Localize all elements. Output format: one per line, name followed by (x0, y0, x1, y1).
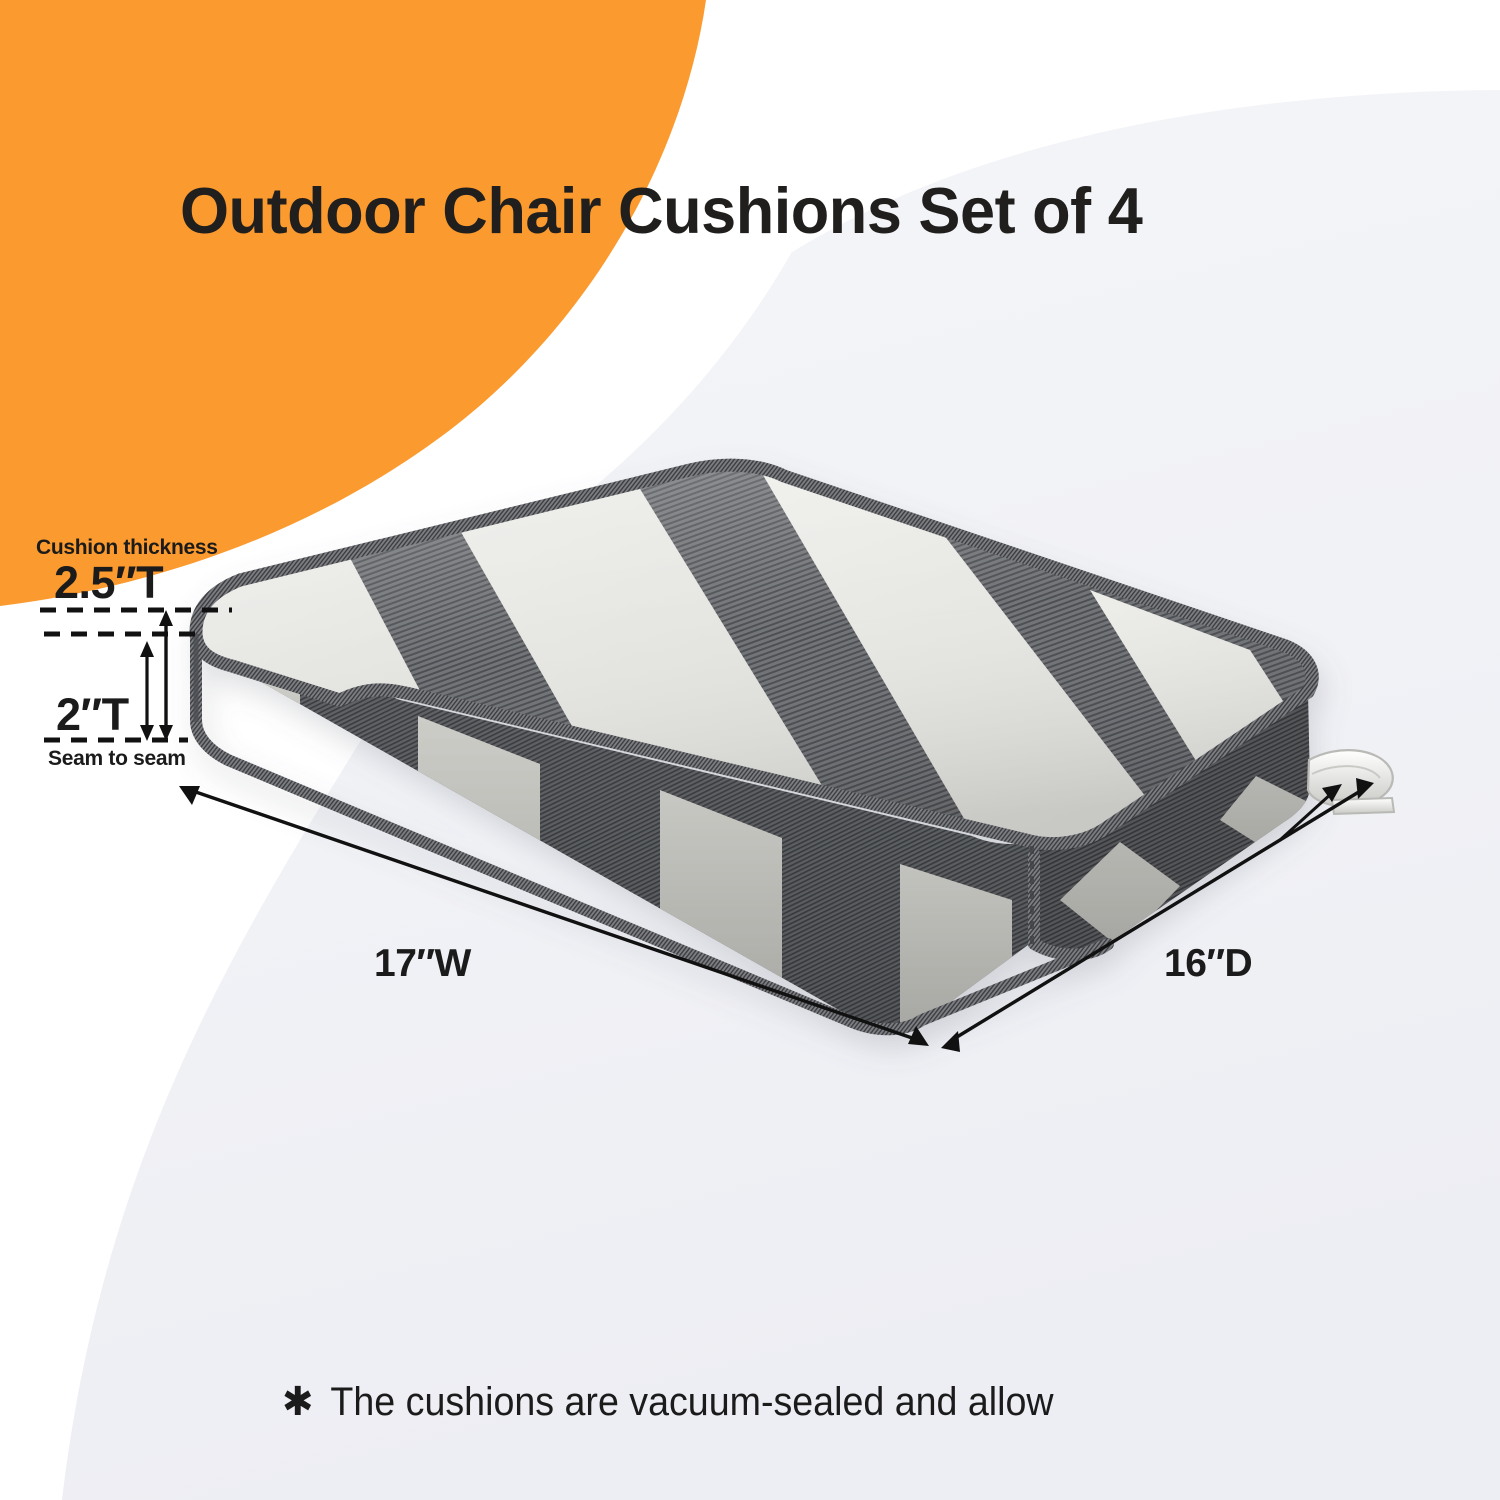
seam-to-seam-caption: Seam to seam (48, 748, 186, 769)
footnote-block: ✱The cushions are vacuum-sealed and allo… (282, 1255, 1054, 1500)
seam-thickness-value: 2″T (56, 692, 129, 737)
footnote-line-1: ✱The cushions are vacuum-sealed and allo… (282, 1373, 1054, 1432)
product-infographic: Outdoor Chair Cushions Set of 4 (0, 0, 1500, 1500)
arrow-overall-thickness (159, 610, 173, 741)
width-label: 17″W (374, 944, 471, 983)
arrow-seam-thickness (140, 641, 154, 741)
overall-thickness-value: 2.5″T (54, 560, 163, 605)
depth-label: 16″D (1164, 944, 1252, 983)
footnote-asterisk: ✱ (282, 1380, 314, 1424)
footnote-line-1-text: The cushions are vacuum-sealed and allow (314, 1380, 1054, 1424)
thickness-caption: Cushion thickness (36, 537, 218, 558)
cushion-3d-body (150, 440, 1360, 1100)
